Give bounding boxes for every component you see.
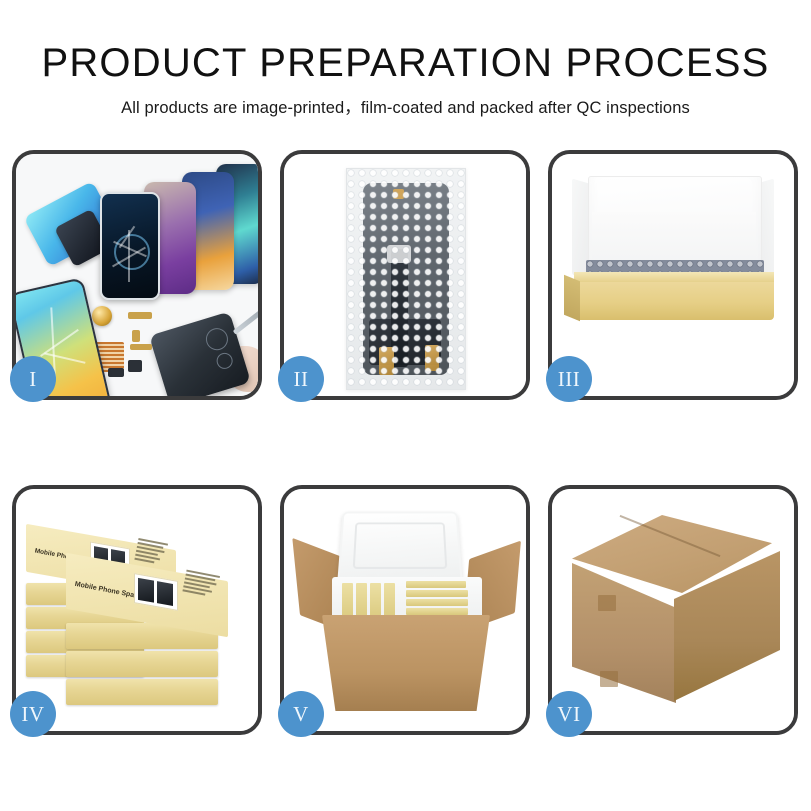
- flex-cable-icon: [130, 344, 152, 350]
- step-badge-5: V: [278, 691, 324, 737]
- gold-component-icon: [92, 306, 112, 326]
- bubble-wrap-bag-icon: [346, 168, 466, 390]
- process-step-2: II: [280, 150, 530, 400]
- crack-line-icon: [44, 352, 85, 363]
- gold-box-side-icon: [564, 275, 580, 321]
- stacked-box: [66, 651, 218, 677]
- screen-glow-icon: [114, 234, 150, 270]
- carton-tape-icon: [598, 595, 616, 611]
- step-badge-6: VI: [546, 691, 592, 737]
- cracked-screen-icon: [100, 192, 160, 300]
- box-stack: Mobile Phone Spare Parts M: [24, 515, 252, 715]
- open-box-image: [552, 154, 794, 396]
- phone-parts-image: [16, 154, 258, 396]
- phone-backplate-icon: [149, 311, 251, 396]
- step-badge-3: III: [546, 356, 592, 402]
- page-subtitle: All products are image-printed，film-coat…: [0, 94, 811, 118]
- process-step-6: VI: [548, 485, 798, 735]
- carton-tape-icon: [600, 671, 618, 687]
- process-step-4: Mobile Phone Spare Parts M: [12, 485, 262, 735]
- camera-ring-icon: [203, 325, 230, 352]
- bubble-wrap-image: [284, 154, 526, 396]
- stacked-box: [66, 679, 218, 705]
- sealed-carton-image: [552, 489, 794, 731]
- small-part-icon: [128, 360, 142, 372]
- flex-cable-icon: [128, 312, 152, 319]
- step-badge-2: II: [278, 356, 324, 402]
- gold-box-body-icon: [574, 282, 774, 320]
- camera-ring-icon: [215, 351, 235, 371]
- header: PRODUCT PREPARATION PROCESS All products…: [0, 0, 811, 118]
- process-step-5: V: [280, 485, 530, 735]
- process-step-1: I: [12, 150, 262, 400]
- small-part-icon: [108, 368, 124, 377]
- step-badge-1: I: [10, 356, 56, 402]
- carton-body-icon: [322, 615, 490, 711]
- process-step-grid: I II: [12, 150, 799, 750]
- flex-cable-icon: [132, 330, 140, 342]
- tweezers-icon: [233, 306, 258, 335]
- page-title: PRODUCT PREPARATION PROCESS: [0, 42, 811, 84]
- step-badge-4: IV: [10, 691, 56, 737]
- product-preparation-infographic: PRODUCT PREPARATION PROCESS All products…: [0, 0, 811, 811]
- bubble-texture-icon: [347, 169, 465, 389]
- carton-foam-image: [284, 489, 526, 731]
- foam-lid-icon: [337, 512, 463, 584]
- process-step-3: III: [548, 150, 798, 400]
- stacked-boxes-image: Mobile Phone Spare Parts M: [16, 489, 258, 731]
